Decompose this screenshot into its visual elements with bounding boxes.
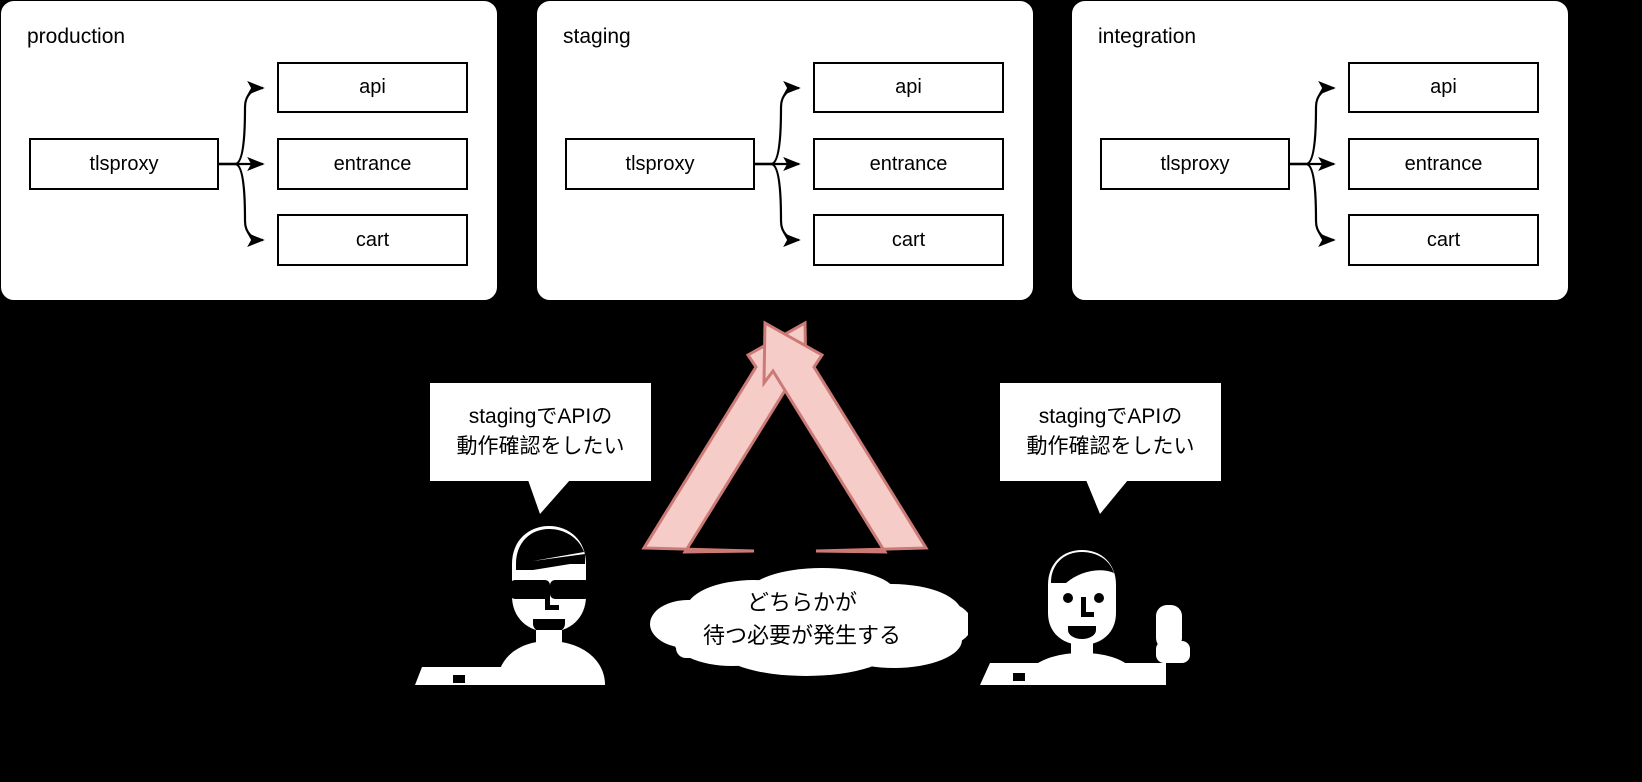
node-box-entrance-integration[interactable]: entrance xyxy=(1348,138,1539,190)
node-box-cart-production[interactable]: cart xyxy=(277,214,468,266)
env-title-production: production xyxy=(27,25,125,49)
laptop-left xyxy=(415,667,518,685)
node-box-cart-staging[interactable]: cart xyxy=(813,214,1004,266)
speech-bubble-left-line1: stagingでAPIの xyxy=(469,402,613,432)
env-panel-staging: staging tlsproxy api entrance cart xyxy=(536,0,1034,301)
speech-bubble-right-line1: stagingでAPIの xyxy=(1039,402,1183,432)
node-label: entrance xyxy=(1405,153,1483,176)
person-developer-right xyxy=(980,545,1195,685)
speech-bubble-left: stagingでAPIの 動作確認をしたい xyxy=(430,383,651,481)
thought-cloud-line2: 待つ必要が発生する xyxy=(636,619,968,652)
raised-arm-right xyxy=(1118,663,1166,685)
speech-bubble-right: stagingでAPIの 動作確認をしたい xyxy=(1000,383,1221,481)
eye-right-right-person xyxy=(1094,593,1104,603)
node-label: api xyxy=(895,76,922,99)
laptop-trackpad-right xyxy=(1013,673,1025,681)
thought-cloud-line1: どちらかが xyxy=(636,586,968,619)
contention-arrows xyxy=(630,305,940,555)
env-title-integration: integration xyxy=(1098,25,1196,49)
node-label: api xyxy=(1430,76,1457,99)
speech-bubble-left-line2: 動作確認をしたい xyxy=(457,432,625,462)
node-box-api-production[interactable]: api xyxy=(277,62,468,113)
thought-cloud-text: どちらかが 待つ必要が発生する xyxy=(636,586,968,652)
node-label: entrance xyxy=(870,153,948,176)
speech-bubble-right-line2: 動作確認をしたい xyxy=(1027,432,1195,462)
node-box-api-integration[interactable]: api xyxy=(1348,62,1539,113)
node-label: tlsproxy xyxy=(1161,153,1230,176)
node-label: tlsproxy xyxy=(626,153,695,176)
node-box-tlsproxy-staging[interactable]: tlsproxy xyxy=(565,138,755,190)
node-label: api xyxy=(359,76,386,99)
node-box-entrance-production[interactable]: entrance xyxy=(277,138,468,190)
node-label: tlsproxy xyxy=(90,153,159,176)
env-title-staging: staging xyxy=(563,25,631,49)
person-developer-left xyxy=(415,520,640,685)
node-label: cart xyxy=(892,229,925,252)
node-box-api-staging[interactable]: api xyxy=(813,62,1004,113)
node-box-tlsproxy-production[interactable]: tlsproxy xyxy=(29,138,219,190)
eye-left-right-person xyxy=(1063,593,1073,603)
diagram-canvas: production tlsproxy api entrance cart xyxy=(0,0,1642,782)
laptop-trackpad-left xyxy=(453,675,465,683)
right-arrow-to-staging xyxy=(764,323,926,552)
env-panel-integration: integration tlsproxy api entrance cart xyxy=(1071,0,1569,301)
node-label: cart xyxy=(356,229,389,252)
node-box-tlsproxy-integration[interactable]: tlsproxy xyxy=(1100,138,1290,190)
laptop-right xyxy=(980,663,1072,685)
speech-bubble-right-tail xyxy=(1086,480,1136,516)
node-box-entrance-staging[interactable]: entrance xyxy=(813,138,1004,190)
env-panel-production: production tlsproxy api entrance cart xyxy=(0,0,498,301)
node-label: entrance xyxy=(334,153,412,176)
speech-bubble-left-tail xyxy=(528,480,578,516)
node-label: cart xyxy=(1427,229,1460,252)
node-box-cart-integration[interactable]: cart xyxy=(1348,214,1539,266)
